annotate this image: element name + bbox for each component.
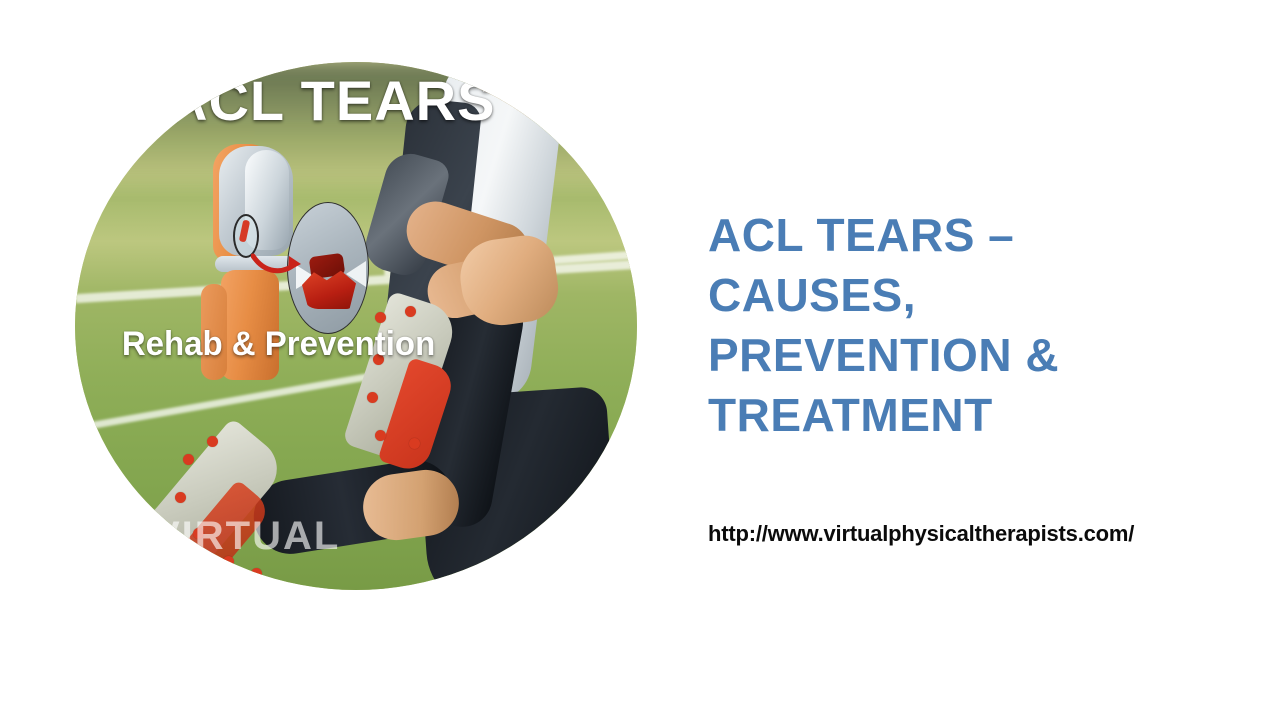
page-title-line-4: TREATMENT xyxy=(708,385,1228,445)
cleat-stud xyxy=(367,392,378,403)
page-title: ACL TEARS – CAUSES, PREVENTION & TREATME… xyxy=(708,205,1228,445)
cleat-stud xyxy=(207,436,218,447)
pointer-arrow-icon xyxy=(251,252,305,278)
cleat-stud xyxy=(405,306,416,317)
image-overlay-subtitle: Rehab & Prevention xyxy=(122,325,435,364)
image-watermark: VIRTUAL xyxy=(153,514,340,559)
cleat-stud xyxy=(183,454,194,465)
cleat-stud xyxy=(375,430,386,441)
cleat-stud xyxy=(175,492,186,503)
cleat-stud xyxy=(251,568,262,579)
cleat-stud xyxy=(375,312,386,323)
page-title-line-1: ACL TEARS – xyxy=(708,205,1228,265)
image-overlay-title: ACL TEARS xyxy=(167,68,495,133)
hero-image-circle: ACL TEARS Rehab & Prevention VIRTUAL xyxy=(75,62,637,590)
website-url-link[interactable]: http://www.virtualphysicaltherapists.com… xyxy=(708,521,1134,547)
page-title-line-2: CAUSES, xyxy=(708,265,1228,325)
cleat-stud xyxy=(409,438,420,449)
photo-content: ACL TEARS Rehab & Prevention VIRTUAL xyxy=(75,62,637,590)
page-title-line-3: PREVENTION & xyxy=(708,325,1228,385)
slide-canvas: ACL TEARS Rehab & Prevention VIRTUAL ACL… xyxy=(0,0,1280,720)
